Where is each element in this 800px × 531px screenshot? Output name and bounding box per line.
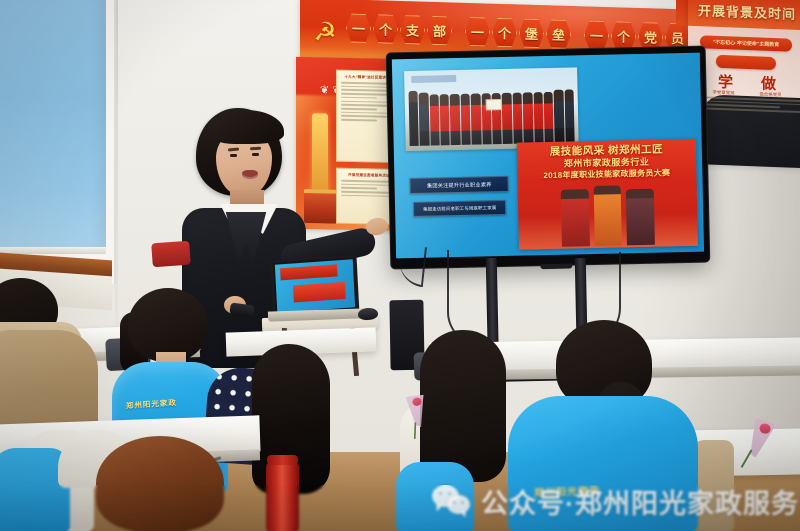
award-plaque: [486, 99, 502, 110]
banner-spacer: [573, 20, 582, 49]
banner-char: 支: [400, 15, 425, 45]
laptop-screen[interactable]: [271, 255, 360, 317]
banner-spacer: [454, 17, 463, 46]
poster-text-line: [341, 89, 389, 92]
attendee-hair: [420, 330, 506, 482]
speaker-mouth: [242, 170, 258, 179]
banner-char: 垒: [546, 19, 571, 49]
attendee-blue-vest: [396, 462, 474, 531]
speaker-fringe: [208, 110, 284, 144]
panel-body-text: [702, 94, 800, 168]
attendee-head: [96, 436, 224, 531]
attendee-head: [128, 288, 208, 362]
laptop-slide-photo-1: [280, 264, 338, 280]
stage-banner-text: 展技能风采 树郑州工匠 郑州市家政服务行业 2018年度职业技能家政服务员大赛: [521, 143, 693, 182]
panel-pill-secondary: [716, 55, 776, 70]
presentation-display[interactable]: 展技能风采 树郑州工匠 郑州市家政服务行业 2018年度职业技能家政服务员大赛 …: [387, 47, 710, 269]
slide-photo-group-award: [404, 67, 578, 150]
poster-text-line: [341, 100, 389, 103]
poster-text-line: [341, 82, 389, 85]
tv-screen: 展技能风采 树郑州工匠 郑州市家政服务行业 2018年度职业技能家政服务员大赛 …: [392, 53, 704, 259]
slide-photo-stage-award: 展技能风采 树郑州工匠 郑州市家政服务行业 2018年度职业技能家政服务员大赛: [517, 138, 698, 249]
panel-pill-primary: "不忘初心·牢记使命"主题教育: [700, 35, 792, 52]
speaker-eye: [230, 154, 237, 157]
laptop-slide: [275, 259, 355, 312]
photo-people-row: [408, 85, 575, 146]
banner-char: 个: [373, 14, 398, 44]
speaker-eye: [252, 153, 259, 156]
photo-logo-mark: [411, 75, 456, 83]
banner-char: 一: [584, 20, 609, 50]
banner-char: 个: [611, 21, 636, 51]
window-roller-blind: [0, 0, 106, 254]
attendee-blue-vest: [508, 396, 698, 531]
rose-stem: [414, 422, 416, 438]
banner-char: 一: [465, 17, 490, 47]
tv-logo-bar: [541, 263, 573, 269]
training-room-photo: ☭ 一 个 支 部 一 个 堡 垒 一 个 党 员 一 面 旗 帜 ❦❦: [0, 0, 800, 531]
hammer-sickle-icon: ☭: [310, 16, 340, 47]
banner-char: 堡: [519, 18, 544, 48]
banner-char: 个: [492, 18, 517, 48]
stage-people: [561, 184, 655, 246]
poster-text-line: [341, 97, 377, 99]
laptop-slide-photo-2: [293, 282, 345, 303]
panel-header-bar: 开展背景及时间: [688, 0, 800, 30]
banner-char: 部: [427, 16, 452, 46]
rose-stem: [741, 450, 753, 468]
banner-char: 一: [346, 13, 371, 43]
panel-text-line: [703, 107, 800, 112]
red-bag: [151, 241, 191, 268]
panel-header-text: 开展背景及时间: [698, 0, 796, 22]
slide-caption-box-1: 集团关注提升行业职业素养: [410, 176, 509, 194]
thermos-bottle: [266, 462, 299, 531]
slide-caption-box-2: 集团走访慰问老职工与残疾职工家属: [413, 200, 506, 217]
